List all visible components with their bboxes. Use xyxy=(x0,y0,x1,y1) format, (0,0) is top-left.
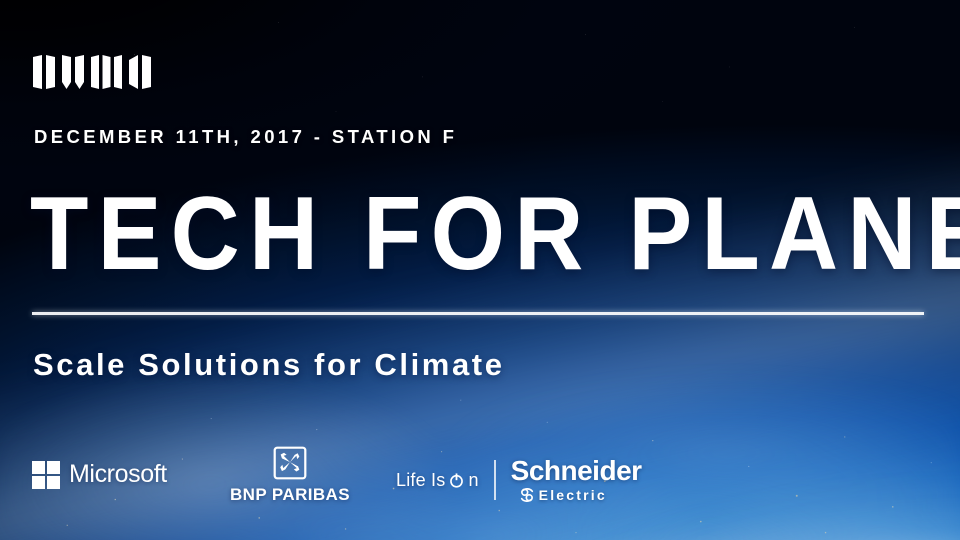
page-title: TECH FOR PLANET xyxy=(30,182,960,286)
sponsor-microsoft-label: Microsoft xyxy=(69,460,167,489)
sponsor-bnp-paribas-label: BNP PARIBAS xyxy=(230,485,350,505)
power-symbol-icon xyxy=(449,473,464,488)
event-subtitle: Scale Solutions for Climate xyxy=(33,347,505,383)
sponsor-bar: Microsoft BNP PARIBAS Lif xyxy=(0,440,960,510)
schneider-tagline-text: Life Is xyxy=(396,470,445,491)
schneider-divider xyxy=(494,460,496,500)
schneider-electric-label: Electric xyxy=(539,488,607,502)
schneider-s-icon xyxy=(519,487,535,503)
poster-content: DECEMBER 11TH, 2017 - STATION F TECH FOR… xyxy=(0,0,960,540)
microsoft-squares-icon xyxy=(32,461,60,489)
schneider-wordmark: Schneider Electric xyxy=(511,457,642,503)
sponsor-microsoft[interactable]: Microsoft xyxy=(32,460,167,489)
sponsor-schneider-electric[interactable]: Life Is n Schneider xyxy=(396,457,642,503)
numa-logo-icon xyxy=(33,55,151,89)
divider-rule xyxy=(32,312,924,315)
event-poster: DECEMBER 11TH, 2017 - STATION F TECH FOR… xyxy=(0,0,960,540)
schneider-subline: Electric xyxy=(519,487,642,503)
schneider-tagline-suffix: n xyxy=(468,470,478,491)
bnp-paribas-stars-icon xyxy=(273,446,307,480)
event-dateline: DECEMBER 11TH, 2017 - STATION F xyxy=(34,126,457,148)
schneider-tagline: Life Is n xyxy=(396,470,479,491)
numa-logo xyxy=(33,55,151,89)
sponsor-bnp-paribas[interactable]: BNP PARIBAS xyxy=(230,446,350,505)
schneider-name: Schneider xyxy=(511,457,642,485)
